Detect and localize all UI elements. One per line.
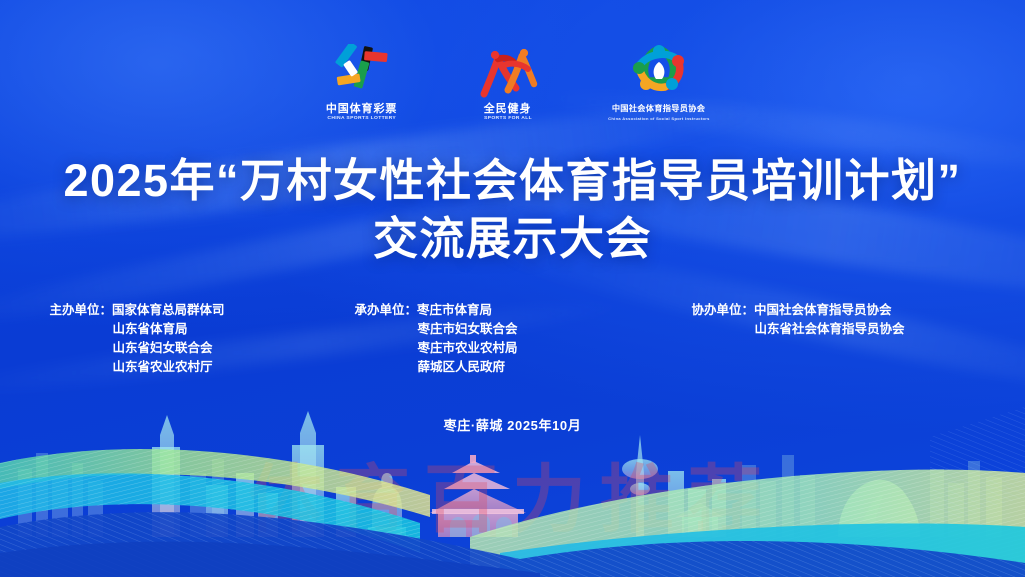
logo-label-en: CHINA SPORTS LOTTERY [327, 115, 396, 122]
organizer-columns: 主办单位：国家体育总局群体司 山东省体育局 山东省妇女联合会 山东省农业农村厅 … [0, 301, 1025, 377]
logo-label-en: China Association of Social Sport Instru… [608, 115, 710, 122]
organizer-line: 山东省农业农村厅 [50, 358, 350, 377]
organizer-line: 承办单位：枣庄市体育局 [355, 301, 630, 320]
organizer-line: 枣庄市农业农村局 [355, 339, 630, 358]
logo-china-sports-lottery: 中国体育彩票 CHINA SPORTS LOTTERY [314, 44, 410, 122]
sports-for-all-icon [468, 44, 548, 100]
china-sports-lottery-icon [314, 44, 410, 100]
logo-label-cn: 全民健身 [484, 103, 532, 115]
organizer-line: 薛城区人民政府 [355, 358, 630, 377]
place-and-date: 枣庄·薛城 2025年10月 [0, 415, 1025, 434]
title-line-1: 2025年“万村女性社会体育指导员培训计划” [0, 152, 1025, 210]
logo-social-sport-instructors: 中国社会体育指导员协会 China Association of Social … [606, 44, 712, 122]
logo-label-en: SPORTS FOR ALL [484, 115, 532, 122]
organizer-line: 主办单位：国家体育总局群体司 [50, 301, 350, 320]
organizer-line: 山东省妇女联合会 [50, 339, 350, 358]
organizer-line: 枣庄市妇女联合会 [355, 320, 630, 339]
organizer-line: 山东省体育局 [50, 320, 350, 339]
social-sport-instructors-icon [613, 44, 705, 100]
logo-label-cn: 中国社会体育指导员协会 [612, 103, 705, 115]
title-line-2: 交流展示大会 [0, 210, 1025, 268]
bottom-artwork: 体育百力推荐 [0, 377, 1025, 577]
poster-title: 2025年“万村女性社会体育指导员培训计划” 交流展示大会 [0, 152, 1025, 268]
organizer-column-coorganizer: 协办单位：中国社会体育指导员协会 山东省社会体育指导员协会 [630, 301, 992, 339]
organizer-column-host: 主办单位：国家体育总局群体司 山东省体育局 山东省妇女联合会 山东省农业农村厅 [34, 301, 350, 377]
organizer-line: 协办单位：中国社会体育指导员协会 [692, 301, 992, 320]
logo-sports-for-all: 全民健身 SPORTS FOR ALL [468, 44, 548, 122]
logo-label-cn: 中国体育彩票 [326, 103, 397, 115]
organizer-column-undertaker: 承办单位：枣庄市体育局 枣庄市妇女联合会 枣庄市农业农村局 薛城区人民政府 [350, 301, 630, 377]
sponsor-logo-row: 中国体育彩票 CHINA SPORTS LOTTERY 全民健身 SPORTS … [0, 44, 1025, 122]
organizer-line: 山东省社会体育指导员协会 [692, 320, 992, 339]
event-poster: 中国体育彩票 CHINA SPORTS LOTTERY 全民健身 SPORTS … [0, 0, 1025, 577]
skyline-and-waves-graphic: 体育百力推荐 [0, 377, 1025, 577]
